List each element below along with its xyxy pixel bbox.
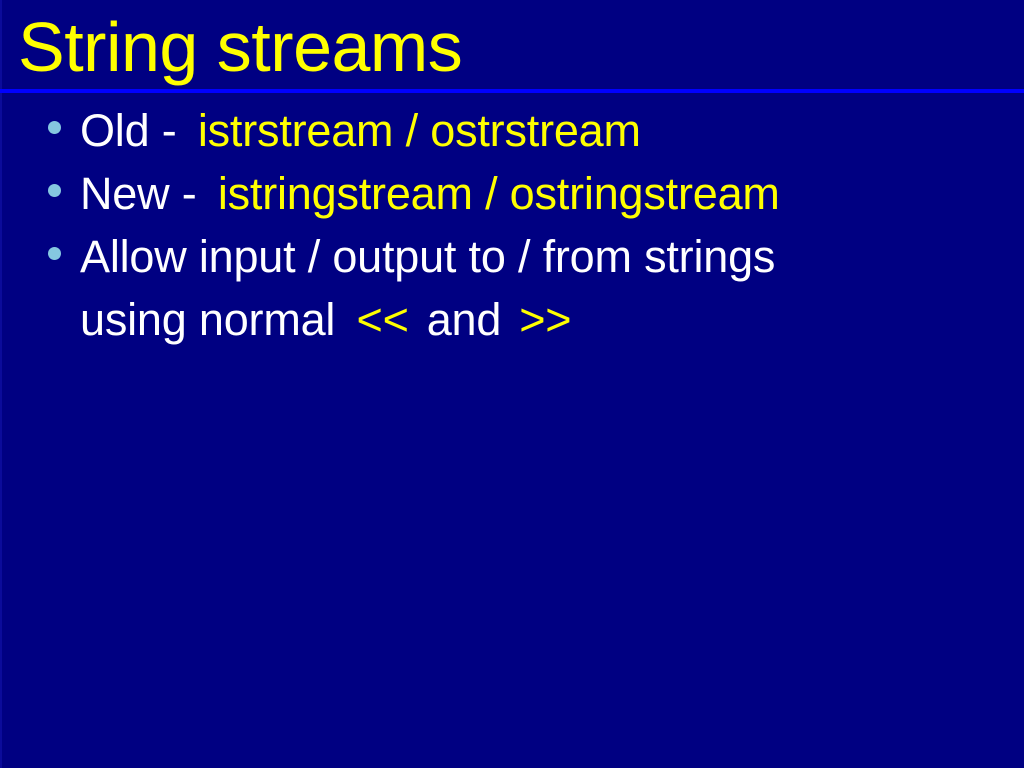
bullet-dot-icon bbox=[48, 184, 61, 197]
bullet-line-allow-io-1: Allow input / output to / from strings bbox=[80, 231, 775, 282]
bullet-line2-conjunction: and bbox=[427, 294, 501, 345]
title-divider-rule bbox=[0, 89, 1024, 93]
bullet-text-allow-io: Allow input / output to / from strings u… bbox=[80, 225, 1004, 351]
bullet-dot-icon bbox=[48, 247, 61, 260]
operator-insertion: << bbox=[357, 294, 409, 345]
bullet-line-allow-io-2: using normal <<and>> bbox=[80, 288, 1004, 351]
slide-title: String streams bbox=[18, 2, 1008, 92]
code-text-old-streams: istrstream / ostrstream bbox=[198, 105, 641, 156]
code-text-new-streams: istringstream / ostringstream bbox=[218, 168, 780, 219]
bullet-label-old: Old - bbox=[80, 105, 189, 156]
bullet-dot-icon bbox=[48, 121, 61, 134]
bullet-text-old-streams: Old - istrstream / ostrstream bbox=[80, 99, 1004, 162]
bullet-item-old-streams: Old - istrstream / ostrstream bbox=[0, 99, 1024, 162]
slide-body: Old - istrstream / ostrstream New - istr… bbox=[0, 99, 1024, 351]
presentation-slide: String streams Old - istrstream / ostrst… bbox=[0, 0, 1024, 768]
bullet-text-new-streams: New - istringstream / ostringstream bbox=[80, 162, 1004, 225]
bullet-item-allow-io: Allow input / output to / from strings u… bbox=[0, 225, 1024, 351]
operator-extraction: >> bbox=[519, 294, 571, 345]
bullet-label-new: New - bbox=[80, 168, 209, 219]
bullet-line2-prefix: using normal bbox=[80, 294, 348, 345]
bullet-item-new-streams: New - istringstream / ostringstream bbox=[0, 162, 1024, 225]
